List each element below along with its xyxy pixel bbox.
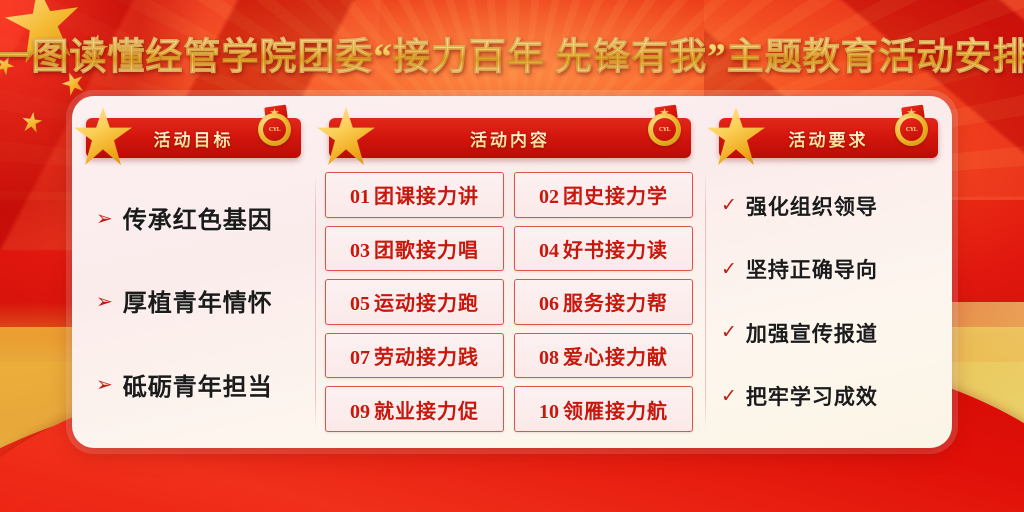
gold-star-icon: [707, 107, 765, 165]
gold-star-icon: [317, 107, 375, 165]
activity-label: 团课接力讲: [374, 186, 479, 208]
activity-grid: 01团课接力讲 02团史接力学 03团歌接力唱 04好书接力读 05运动接力跑 …: [315, 158, 705, 448]
activity-label: 爱心接力献: [563, 347, 668, 369]
section-title-requirements: 活动要求: [789, 126, 869, 151]
goal-label: 传承红色基因: [123, 200, 273, 235]
section-banner-contents: 活动内容 CYL: [329, 118, 691, 158]
activity-cell[interactable]: 05运动接力跑: [325, 279, 504, 325]
activity-label: 团史接力学: [563, 186, 668, 208]
goal-label: 砥砺青年担当: [123, 367, 273, 402]
arrow-bullet-icon: ➢: [96, 374, 113, 394]
list-item[interactable]: ➢ 传承红色基因: [96, 200, 305, 235]
check-mark-icon: ✓: [721, 196, 737, 215]
check-mark-icon: ✓: [721, 260, 737, 279]
arrow-bullet-icon: ➢: [96, 291, 113, 311]
activity-cell[interactable]: 01团课接力讲: [325, 172, 504, 218]
cyl-emblem-text: CYL: [906, 127, 917, 133]
activity-label: 劳动接力践: [374, 347, 479, 369]
section-banner-goals: 活动目标 CYL: [86, 118, 301, 158]
cyl-emblem-icon: CYL: [255, 106, 295, 146]
goals-list: ➢ 传承红色基因 ➢ 厚植青年情怀 ➢ 砥砺青年担当: [72, 158, 315, 448]
list-item[interactable]: ➢ 砥砺青年担当: [96, 367, 305, 402]
check-mark-icon: ✓: [721, 323, 737, 342]
list-item[interactable]: ✓ 坚持正确导向: [721, 254, 944, 284]
section-title-goals: 活动目标: [154, 126, 234, 151]
activity-cell[interactable]: 03团歌接力唱: [325, 226, 504, 272]
activity-cell[interactable]: 04好书接力读: [514, 226, 693, 272]
activity-number: 03: [350, 240, 370, 262]
activity-label: 运动接力跑: [374, 293, 479, 315]
activity-label: 团歌接力唱: [374, 240, 479, 262]
section-requirements: 活动要求 CYL ✓ 强化组织领导 ✓ 坚持正确导向: [705, 96, 952, 448]
section-banner-requirements: 活动要求 CYL: [719, 118, 938, 158]
list-item[interactable]: ✓ 强化组织领导: [721, 191, 944, 221]
activity-number: 04: [539, 240, 559, 262]
activity-cell[interactable]: 10领雁接力航: [514, 386, 693, 432]
activity-cell[interactable]: 02团史接力学: [514, 172, 693, 218]
check-mark-icon: ✓: [721, 387, 737, 406]
requirements-list: ✓ 强化组织领导 ✓ 坚持正确导向 ✓ 加强宣传报道 ✓ 把牢学习成效: [705, 158, 952, 448]
activity-cell[interactable]: 08爱心接力献: [514, 333, 693, 379]
content-card: 活动目标 CYL ➢ 传承红色基因 ➢ 厚植青年情怀: [72, 96, 952, 448]
gold-star-icon: [74, 107, 132, 165]
activity-label: 好书接力读: [563, 240, 668, 262]
cyl-emblem-text: CYL: [269, 127, 280, 133]
list-item[interactable]: ✓ 加强宣传报道: [721, 318, 944, 348]
title-bar: 一图读懂经管学院团委“接力百年 先锋有我”主题教育活动安排: [0, 26, 1024, 80]
section-contents: 活动内容 CYL 01团课接力讲 02团史接力学 03团歌接力唱 04好书接力读…: [315, 96, 705, 448]
activity-cell[interactable]: 06服务接力帮: [514, 279, 693, 325]
goal-label: 厚植青年情怀: [123, 283, 273, 318]
infographic-poster: 一图读懂经管学院团委“接力百年 先锋有我”主题教育活动安排 活动目标 CYL: [0, 0, 1024, 512]
page-title: 一图读懂经管学院团委“接力百年 先锋有我”主题教育活动安排: [0, 26, 1024, 80]
requirement-label: 坚持正确导向: [746, 254, 878, 284]
activity-number: 01: [350, 186, 370, 208]
activity-number: 07: [350, 347, 370, 369]
activity-number: 02: [539, 186, 559, 208]
cyl-emblem-text: CYL: [659, 127, 670, 133]
arrow-bullet-icon: ➢: [96, 208, 113, 228]
requirement-label: 把牢学习成效: [746, 381, 878, 411]
activity-number: 09: [350, 401, 370, 423]
activity-label: 服务接力帮: [563, 293, 668, 315]
section-goals: 活动目标 CYL ➢ 传承红色基因 ➢ 厚植青年情怀: [72, 96, 315, 448]
activity-label: 就业接力促: [374, 401, 479, 423]
cyl-emblem-icon: CYL: [892, 106, 932, 146]
activity-number: 08: [539, 347, 559, 369]
list-item[interactable]: ✓ 把牢学习成效: [721, 381, 944, 411]
section-title-contents: 活动内容: [470, 126, 550, 151]
activity-cell[interactable]: 09就业接力促: [325, 386, 504, 432]
requirement-label: 加强宣传报道: [746, 318, 878, 348]
activity-number: 05: [350, 293, 370, 315]
requirement-label: 强化组织领导: [746, 191, 878, 221]
cyl-emblem-icon: CYL: [645, 106, 685, 146]
activity-number: 06: [539, 293, 559, 315]
activity-number: 10: [539, 401, 559, 423]
activity-cell[interactable]: 07劳动接力践: [325, 333, 504, 379]
activity-label: 领雁接力航: [563, 401, 668, 423]
list-item[interactable]: ➢ 厚植青年情怀: [96, 283, 305, 318]
